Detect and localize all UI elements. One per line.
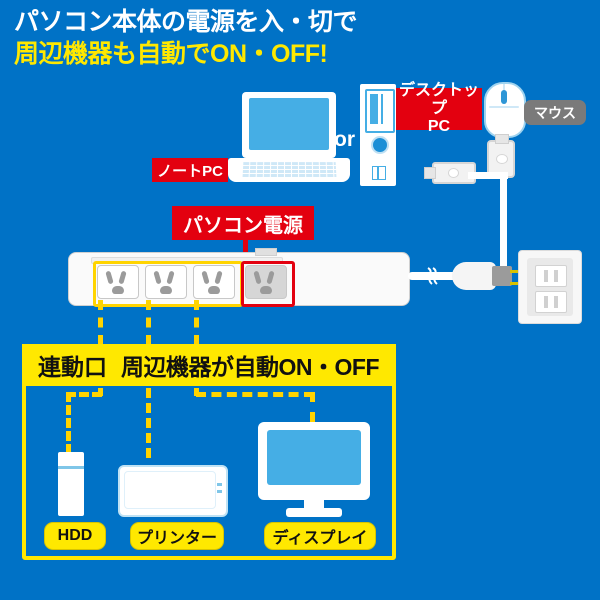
wall-outlet-illustration: [518, 250, 582, 324]
hdd-illustration: [58, 452, 84, 516]
pc-power-outlet-highlight: [241, 261, 295, 307]
link-line-outlet-1: [98, 300, 103, 345]
link-line-outlet-3: [194, 300, 199, 345]
laptop-screen: [249, 98, 329, 150]
linked-devices-banner: 連動口 周辺機器が自動ON・OFF: [22, 344, 396, 386]
display-illustration: [258, 422, 370, 518]
headline-block: パソコン本体の電源を入・切で 周辺機器も自動でON・OFF!: [14, 6, 574, 70]
banner-title: 連動口: [38, 348, 107, 382]
tower-drive-bay: [365, 89, 395, 133]
route-printer-vertical: [146, 388, 151, 458]
route-hdd-vertical: [66, 392, 71, 454]
route-display-vertical: [310, 392, 315, 422]
cord-squiggle-icon: [424, 266, 440, 286]
mouse-illustration: [484, 82, 526, 138]
desktop-tower-illustration: [360, 84, 396, 186]
desktop-pc-label: デスクトップ PC: [396, 88, 482, 130]
tower-vent: [372, 166, 386, 180]
pc-power-outlet-label: パソコン電源: [172, 206, 314, 240]
mouse-label: マウス: [524, 100, 586, 125]
printer-label: プリンター: [130, 522, 224, 550]
power-strip-nub: [255, 248, 277, 256]
usb-cable-vertical: [500, 172, 507, 268]
power-cord-squiggle: [424, 266, 440, 286]
power-plug-head: [492, 266, 512, 286]
laptop-label: ノートPC: [152, 158, 228, 182]
route-hdd-horizontal: [66, 392, 102, 397]
laptop-illustration: [228, 92, 350, 184]
display-label: ディスプレイ: [264, 522, 376, 550]
banner-subtitle: 周辺機器が自動ON・OFF: [121, 348, 379, 382]
or-text: or: [334, 128, 355, 152]
wall-socket-1: [535, 265, 567, 287]
route-display-horizontal: [196, 392, 314, 397]
linked-outlets-highlight: [93, 261, 243, 307]
wall-socket-2: [535, 291, 567, 313]
headline-line-2: 周辺機器も自動でON・OFF!: [14, 38, 574, 70]
laptop-keyboard: [242, 161, 337, 177]
hdd-label: HDD: [44, 522, 106, 550]
power-strip-illustration: [68, 252, 410, 306]
mouse-seam: [489, 106, 519, 108]
infographic-canvas: パソコン本体の電源を入・切で 周辺機器も自動でON・OFF! ノートPC or …: [0, 0, 600, 600]
tower-power-button-icon: [371, 136, 389, 154]
mouse-scroll-wheel: [501, 90, 507, 104]
desktop-pc-label-line2: PC: [428, 118, 450, 136]
desktop-pc-label-line1: デスクトップ: [396, 82, 482, 118]
headline-line-1: パソコン本体の電源を入・切で: [14, 6, 574, 38]
printer-illustration: [118, 465, 228, 517]
power-plug-body: [452, 262, 496, 290]
link-line-outlet-2: [146, 300, 151, 345]
